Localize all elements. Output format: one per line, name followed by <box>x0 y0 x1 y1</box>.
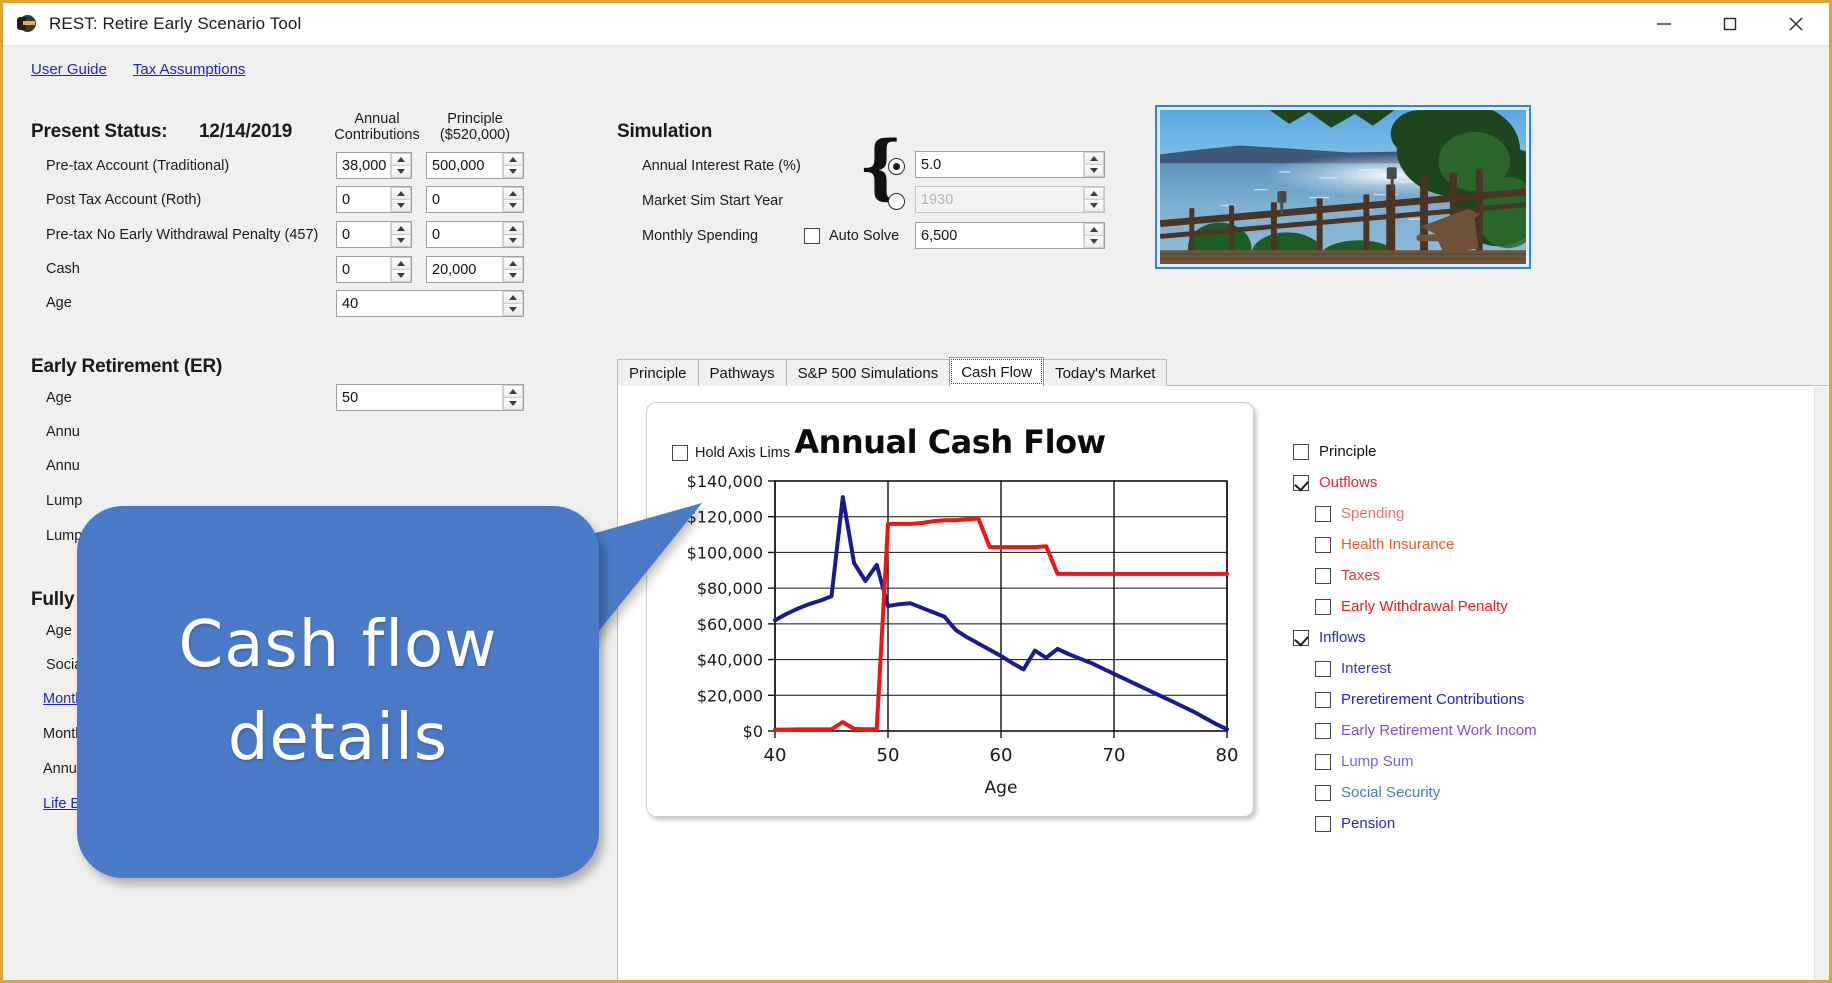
spinner-buttons[interactable] <box>390 153 411 178</box>
input-pretax-traditional-principle[interactable]: 500,000 <box>426 152 524 179</box>
close-icon[interactable] <box>1763 3 1829 46</box>
legend-checkbox[interactable] <box>1315 754 1331 770</box>
legend-checkbox[interactable] <box>1315 506 1331 522</box>
tab-cash-flow[interactable]: Cash Flow <box>949 357 1044 386</box>
spinner-buttons[interactable] <box>390 187 411 212</box>
svg-text:80: 80 <box>1216 745 1239 766</box>
app-content: User Guide Tax Assumptions Present Statu… <box>3 46 1829 980</box>
legend-label: Interest <box>1341 660 1391 677</box>
app-window: REST: Retire Early Scenario Tool User Gu… <box>0 0 1832 983</box>
svg-text:70: 70 <box>1103 745 1126 766</box>
panel-scrollbar[interactable] <box>1814 387 1830 981</box>
legend-item-lump-sum[interactable]: Lump Sum <box>1293 746 1593 777</box>
input-monthly-spending[interactable]: 6,500 <box>915 222 1105 249</box>
spinner-buttons[interactable] <box>1083 223 1104 248</box>
legend-checkbox[interactable] <box>1315 537 1331 553</box>
row-label-post-tax-roth: Post Tax Account (Roth) <box>46 192 201 208</box>
tab-sp500-simulations[interactable]: S&P 500 Simulations <box>786 359 951 386</box>
title-bar: REST: Retire Early Scenario Tool <box>3 3 1829 46</box>
svg-text:Age: Age <box>985 778 1018 798</box>
legend-checkbox[interactable] <box>1315 692 1331 708</box>
chart-title: Annual Cash Flow <box>647 423 1253 461</box>
input-457-contrib[interactable]: 0 <box>336 221 412 248</box>
input-market-sim-start-year[interactable]: 1930 <box>915 186 1105 213</box>
input-er-age[interactable]: 50 <box>336 384 524 411</box>
callout-line-2: details <box>228 692 448 785</box>
input-roth-contrib[interactable]: 0 <box>336 186 412 213</box>
legend-checkbox[interactable] <box>1315 723 1331 739</box>
spinner-buttons[interactable] <box>502 257 523 282</box>
legend-item-taxes[interactable]: Taxes <box>1293 560 1593 591</box>
svg-text:50: 50 <box>877 745 900 766</box>
input-present-age[interactable]: 40 <box>336 290 524 317</box>
legend-item-health-insurance[interactable]: Health Insurance <box>1293 529 1593 560</box>
legend-item-social-security[interactable]: Social Security <box>1293 777 1593 808</box>
legend-checkbox[interactable] <box>1293 444 1309 460</box>
legend-checkbox[interactable] <box>1293 630 1309 646</box>
input-roth-principle[interactable]: 0 <box>426 186 524 213</box>
cash-flow-callout: Cash flow details <box>77 498 617 888</box>
legend-label: Spending <box>1341 505 1404 522</box>
tab-pathways[interactable]: Pathways <box>698 359 787 386</box>
spinner-buttons[interactable] <box>1083 187 1104 212</box>
svg-text:40: 40 <box>764 745 787 766</box>
present-status-title: Present Status: <box>31 121 167 143</box>
present-status-date: 12/14/2019 <box>199 121 292 143</box>
auto-solve-checkbox[interactable] <box>804 228 820 244</box>
sim-label-market-start-year: Market Sim Start Year <box>642 193 783 209</box>
lakeside-photo <box>1160 110 1526 264</box>
legend-item-principle[interactable]: Principle <box>1293 436 1593 467</box>
legend-label: Inflows <box>1319 629 1366 646</box>
maximize-icon[interactable] <box>1697 3 1763 46</box>
legend-item-early-retirement-work-incom[interactable]: Early Retirement Work Incom <box>1293 715 1593 746</box>
svg-text:60: 60 <box>990 745 1013 766</box>
simulation-title: Simulation <box>617 121 712 143</box>
legend-checkbox[interactable] <box>1315 661 1331 677</box>
svg-text:$140,000: $140,000 <box>687 472 763 491</box>
col-header-principle: Principle ($520,000) <box>425 111 525 143</box>
window-title: REST: Retire Early Scenario Tool <box>49 14 301 34</box>
window-controls <box>1631 3 1829 46</box>
sim-label-monthly-spending: Monthly Spending <box>642 228 758 244</box>
legend-item-pension[interactable]: Pension <box>1293 808 1593 839</box>
input-cash-principle[interactable]: 20,000 <box>426 256 524 283</box>
col-header-contributions: Annual Contributions <box>331 111 423 143</box>
spinner-buttons[interactable] <box>502 153 523 178</box>
legend-label: Early Withdrawal Penalty <box>1341 598 1508 615</box>
legend-label: Early Retirement Work Incom <box>1341 722 1537 739</box>
tab-principle[interactable]: Principle <box>617 359 699 386</box>
legend-label: Pension <box>1341 815 1395 832</box>
legend-checkbox[interactable] <box>1293 475 1309 491</box>
legend-label: Principle <box>1319 443 1377 460</box>
er-row-label-annual-2: Annu <box>46 458 80 474</box>
input-cash-contrib[interactable]: 0 <box>336 256 412 283</box>
spinner-buttons[interactable] <box>390 257 411 282</box>
input-pretax-traditional-contrib[interactable]: 38,000 <box>336 152 412 179</box>
row-label-age: Age <box>46 295 72 311</box>
fr-row-label-age: Age <box>46 623 72 639</box>
legend-item-preretirement-contributions[interactable]: Preretirement Contributions <box>1293 684 1593 715</box>
legend-label: Lump Sum <box>1341 753 1414 770</box>
tab-strip: Principle Pathways S&P 500 Simulations C… <box>617 358 1166 386</box>
cash-flow-panel: Hold Axis Lims Annual Cash Flow $0$20,00… <box>617 385 1832 983</box>
legend-item-interest[interactable]: Interest <box>1293 653 1593 684</box>
legend-item-outflows[interactable]: Outflows <box>1293 467 1593 498</box>
auto-solve-label: Auto Solve <box>829 228 899 244</box>
chart-card: Hold Axis Lims Annual Cash Flow $0$20,00… <box>646 402 1254 817</box>
tab-todays-market[interactable]: Today's Market <box>1043 359 1167 386</box>
callout-line-1: Cash flow <box>179 599 498 692</box>
legend-label: Taxes <box>1341 567 1380 584</box>
legend-label: Social Security <box>1341 784 1440 801</box>
early-retirement-title: Early Retirement (ER) <box>31 356 222 378</box>
legend-item-spending[interactable]: Spending <box>1293 498 1593 529</box>
er-row-label-age: Age <box>46 390 72 406</box>
app-icon <box>17 13 39 35</box>
spinner-buttons[interactable] <box>502 385 523 410</box>
photo-frame <box>1155 105 1531 269</box>
legend-checkbox[interactable] <box>1315 816 1331 832</box>
svg-text:$0: $0 <box>743 722 763 741</box>
legend-checkbox[interactable] <box>1315 568 1331 584</box>
radio-interest-rate[interactable] <box>888 158 905 175</box>
annual-cash-flow-chart: $0$20,000$40,000$60,000$80,000$100,000$1… <box>647 463 1255 813</box>
spinner-buttons[interactable] <box>502 187 523 212</box>
legend-item-inflows[interactable]: Inflows <box>1293 622 1593 653</box>
sim-label-interest-rate: Annual Interest Rate (%) <box>642 158 801 174</box>
legend-checkbox[interactable] <box>1315 785 1331 801</box>
radio-market-sim[interactable] <box>888 193 905 210</box>
callout-text: Cash flow details <box>77 506 599 878</box>
fully-retired-title: Fully <box>31 589 74 611</box>
row-label-pretax-traditional: Pre-tax Account (Traditional) <box>46 158 229 174</box>
series-legend: PrincipleOutflowsSpendingHealth Insuranc… <box>1293 436 1593 839</box>
minimize-icon[interactable] <box>1631 3 1697 46</box>
spinner-buttons[interactable] <box>502 222 523 247</box>
input-annual-interest-rate[interactable]: 5.0 <box>915 151 1105 178</box>
legend-label: Health Insurance <box>1341 536 1454 553</box>
spinner-buttons[interactable] <box>1083 152 1104 177</box>
legend-label: Outflows <box>1319 474 1377 491</box>
legend-item-early-withdrawal-penalty[interactable]: Early Withdrawal Penalty <box>1293 591 1593 622</box>
row-label-cash: Cash <box>46 261 80 277</box>
er-row-label-annual-1: Annu <box>46 424 80 440</box>
legend-label: Preretirement Contributions <box>1341 691 1524 708</box>
spinner-buttons[interactable] <box>390 222 411 247</box>
row-label-457: Pre-tax No Early Withdrawal Penalty (457… <box>46 227 318 243</box>
legend-checkbox[interactable] <box>1315 599 1331 615</box>
spinner-buttons[interactable] <box>502 291 523 316</box>
input-457-principle[interactable]: 0 <box>426 221 524 248</box>
